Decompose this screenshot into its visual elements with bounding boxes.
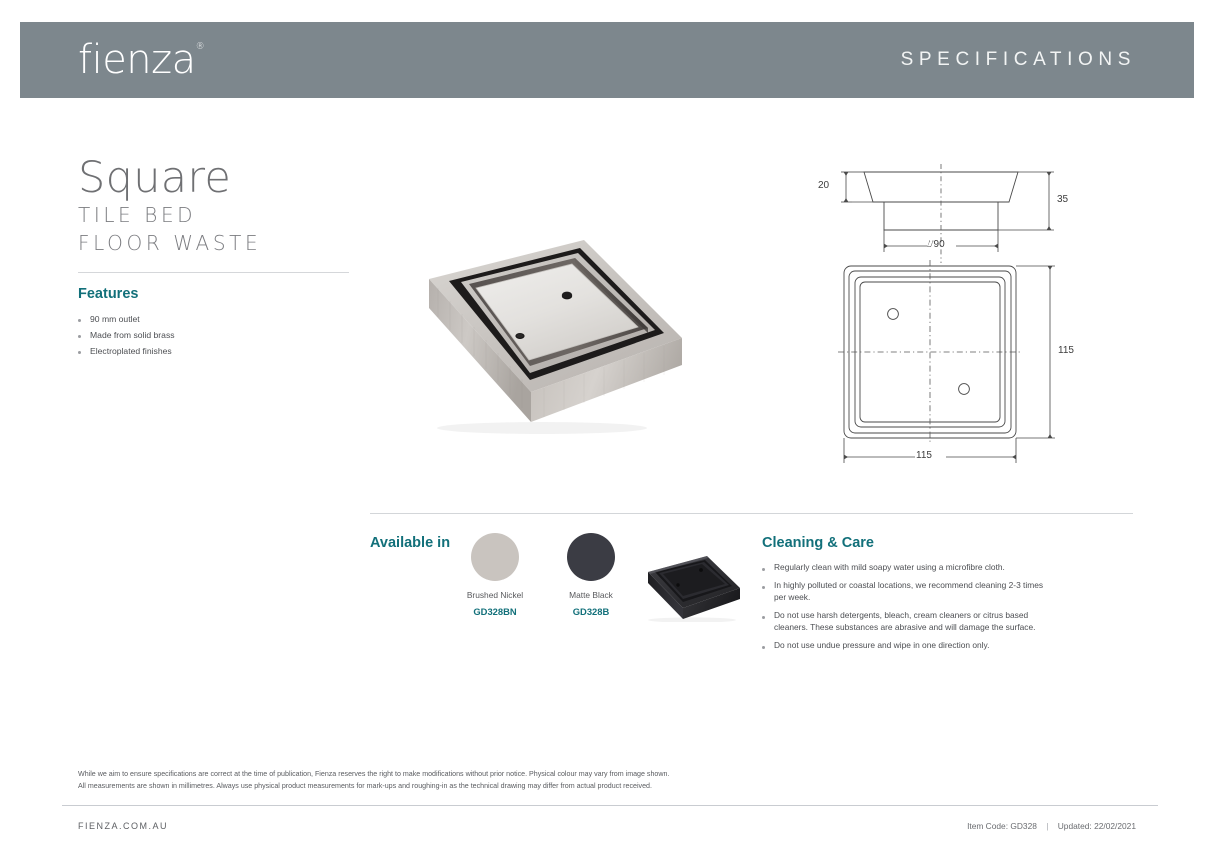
cleaning-care-text: In highly polluted or coastal locations,… (774, 580, 1057, 604)
footer-separator: | (1046, 821, 1048, 831)
available-in-heading: Available in (370, 535, 450, 551)
fienza-logo: fienza® (78, 40, 205, 80)
footer-divider (62, 805, 1158, 806)
dim-label-outlet-diameter: ⌰90 (927, 239, 945, 250)
item-code-value: GD328 (1010, 821, 1037, 831)
bullet-dot-icon (78, 319, 81, 322)
colour-swatch-group: Brushed Nickel GD328BN Matte Black GD328… (447, 533, 639, 617)
list-item: Made from solid brass (78, 329, 348, 341)
product-title-block: Square TILE BED FLOOR WASTE (78, 157, 363, 258)
technical-drawing-side-elevation: 20 35 ⌰90 (806, 160, 1096, 265)
feature-text: Electroplated finishes (90, 345, 172, 357)
swatch-option-matte-black[interactable]: Matte Black GD328B (543, 533, 639, 617)
product-name: Square (78, 157, 363, 201)
dim-label-plan-width: 115 (916, 450, 932, 461)
cleaning-care-text: Regularly clean with mild soapy water us… (774, 562, 1005, 574)
bullet-dot-icon (762, 586, 765, 589)
product-subtitle-line-2: FLOOR WASTE (78, 229, 363, 257)
footer-website-link[interactable]: FIENZA.COM.AU (78, 821, 168, 831)
swatch-code: GD328BN (447, 606, 543, 617)
swatch-circle-matte-black[interactable] (567, 533, 615, 581)
features-heading: Features (78, 286, 138, 302)
features-list: 90 mm outlet Made from solid brass Elect… (78, 313, 348, 362)
disclaimer-block: While we aim to ensure specifications ar… (78, 768, 1058, 793)
list-item: Regularly clean with mild soapy water us… (762, 562, 1057, 574)
cleaning-care-list: Regularly clean with mild soapy water us… (762, 562, 1057, 658)
product-photo (392, 232, 704, 437)
feature-text: Made from solid brass (90, 329, 175, 341)
list-item: Do not use undue pressure and wipe in on… (762, 640, 1057, 652)
item-code-label: Item Code: (967, 821, 1008, 831)
title-divider (78, 272, 349, 273)
cleaning-care-heading: Cleaning & Care (762, 535, 874, 551)
cleaning-care-text: Do not use harsh detergents, bleach, cre… (774, 610, 1057, 634)
bullet-dot-icon (762, 646, 765, 649)
disclaimer-line-1: While we aim to ensure specifications ar… (78, 768, 1058, 780)
page-header: fienza® SPECIFICATIONS (20, 22, 1194, 98)
bullet-dot-icon (78, 351, 81, 354)
bullet-dot-icon (762, 616, 765, 619)
list-item: Do not use harsh detergents, bleach, cre… (762, 610, 1057, 634)
swatch-name: Matte Black (543, 590, 639, 602)
updated-label: Updated: (1058, 821, 1092, 831)
swatch-option-brushed-nickel[interactable]: Brushed Nickel GD328BN (447, 533, 543, 617)
footer-meta: Item Code: GD328 | Updated: 22/02/2021 (967, 821, 1136, 831)
list-item: 90 mm outlet (78, 313, 348, 325)
dim-label-total-height: 35 (1057, 194, 1068, 205)
section-divider (370, 513, 1133, 514)
specification-sheet: fienza® SPECIFICATIONS Square TILE BED F… (0, 0, 1214, 859)
disclaimer-line-2: All measurements are shown in millimetre… (78, 780, 1058, 792)
list-item: In highly polluted or coastal locations,… (762, 580, 1057, 604)
list-item: Electroplated finishes (78, 345, 348, 357)
plan-view-svg (824, 258, 1099, 473)
variant-thumbnail-illustration (634, 552, 746, 622)
product-subtitle-line-1: TILE BED (78, 201, 363, 229)
dim-label-plan-height: 115 (1058, 345, 1074, 356)
feature-text: 90 mm outlet (90, 313, 140, 325)
side-elevation-svg (806, 160, 1096, 265)
bullet-dot-icon (762, 568, 765, 571)
logo-wordmark: fienza (78, 37, 196, 83)
bullet-dot-icon (78, 335, 81, 338)
product-photo-illustration (392, 232, 704, 437)
updated-value: 22/02/2021 (1094, 821, 1136, 831)
variant-thumbnail-matte-black (634, 552, 746, 622)
document-type-title: SPECIFICATIONS (901, 49, 1136, 71)
swatch-name: Brushed Nickel (447, 590, 543, 602)
technical-drawing-plan-view: 115 115 (824, 258, 1099, 473)
dim-label-upper-height: 20 (818, 180, 829, 191)
swatch-circle-brushed-nickel[interactable] (471, 533, 519, 581)
registered-trademark-icon: ® (196, 42, 205, 52)
cleaning-care-text: Do not use undue pressure and wipe in on… (774, 640, 989, 652)
swatch-code: GD328B (543, 606, 639, 617)
